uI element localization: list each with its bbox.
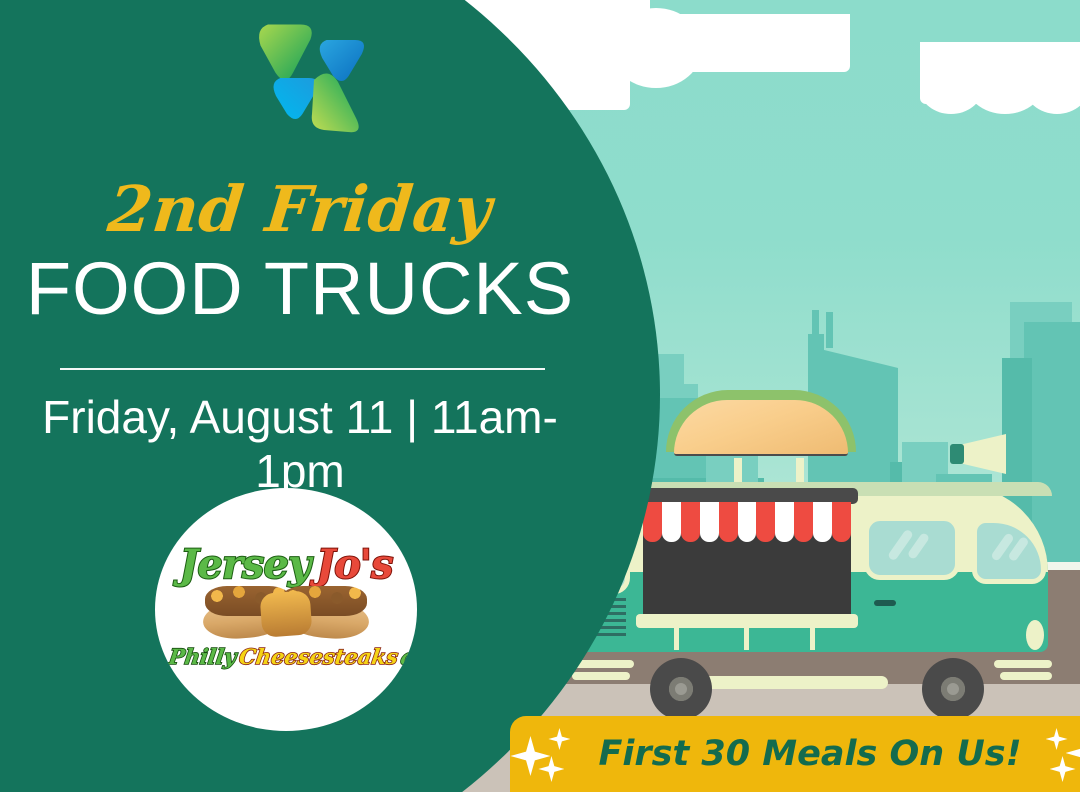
sparkle-icon: [510, 726, 584, 782]
vendor-name-part1: Jersey: [179, 541, 310, 588]
megaphone-icon: [950, 434, 1006, 474]
tagline-part1: Philly: [167, 644, 238, 669]
tagline-part2: Cheesesteaks: [238, 644, 400, 669]
promo-poster: 2nd Friday FOOD TRUCKS Friday, August 11…: [0, 0, 1080, 792]
offer-text: First 30 Meals On Us!: [598, 734, 1021, 774]
page-title: FOOD TRUCKS: [0, 250, 600, 328]
x-butterfly-logo-icon: [252, 14, 378, 140]
divider: [60, 368, 545, 370]
event-dateline: Friday, August 11 | 11am-1pm: [0, 390, 600, 498]
truck-wheel: [650, 658, 712, 720]
cheesesteak-icon: [203, 586, 369, 638]
tagline-part3: and More!: [399, 644, 417, 669]
sparkle-icon: [1036, 726, 1080, 782]
vendor-name-part2: Jo's: [316, 541, 392, 588]
headlight-icon: [1026, 620, 1044, 650]
offer-banner: First 30 Meals On Us!: [510, 716, 1080, 792]
truck-door-handle: [874, 600, 896, 606]
service-counter: [636, 614, 858, 628]
poster-kicker: 2nd Friday: [0, 172, 604, 246]
cloud-icon: [920, 42, 1080, 94]
truck-bumper: [698, 676, 888, 689]
taco-sign-icon: [666, 390, 856, 466]
vendor-tagline: PhillyCheesesteaksand More!: [167, 642, 405, 672]
striped-awning: [643, 502, 851, 542]
truck-wheel: [922, 658, 984, 720]
vendor-wordmark: JerseyJo's: [169, 542, 403, 588]
vendor-logo-badge: JerseyJo's PhillyCheesesteaksand More!: [155, 488, 417, 731]
poster-content: 2nd Friday FOOD TRUCKS Friday, August 11…: [0, 0, 600, 792]
